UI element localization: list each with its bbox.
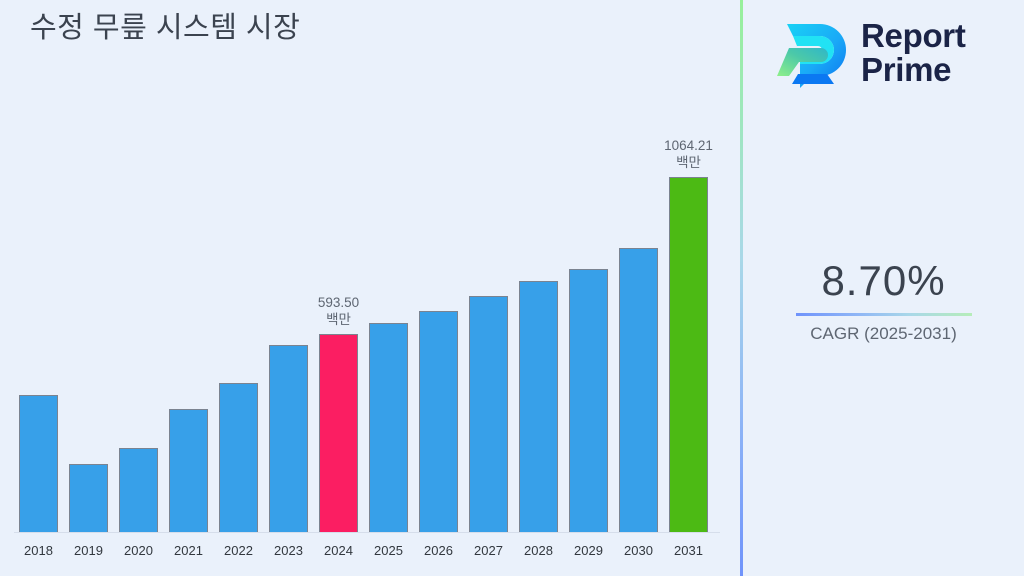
bar-2026 — [419, 311, 458, 533]
bar-2030 — [619, 248, 658, 533]
bar-value-unit-2031: 백만 — [629, 154, 749, 171]
cagr-caption: CAGR (2025-2031) — [743, 323, 1024, 345]
side-panel: Report Prime 8.70% CAGR (2025-2031) — [743, 0, 1024, 576]
bar-2022 — [219, 383, 258, 533]
brand-logo-line2: Prime — [861, 51, 951, 88]
cagr-block: 8.70% CAGR (2025-2031) — [743, 255, 1024, 345]
chart-panel: 수정 무릎 시스템 시장 593.50백만1064.21백만 201820192… — [0, 0, 740, 576]
cagr-value: 8.70% — [743, 255, 1024, 307]
bar-2025 — [369, 323, 408, 533]
brand-logo: Report Prime — [771, 10, 1003, 96]
bar-2024 — [319, 334, 358, 533]
bar-2029 — [569, 269, 608, 533]
bar-2031 — [669, 177, 708, 533]
brand-logo-text: Report Prime — [861, 19, 966, 87]
bar-2019 — [69, 464, 108, 533]
bar-2028 — [519, 281, 558, 533]
x-axis-line — [14, 532, 720, 533]
chart-screenshot: 수정 무릎 시스템 시장 593.50백만1064.21백만 201820192… — [0, 0, 1024, 576]
bar-2021 — [169, 409, 208, 533]
cagr-divider-rule — [796, 313, 972, 316]
bar-2020 — [119, 448, 158, 533]
bar-2027 — [469, 296, 508, 533]
bar-2018 — [19, 395, 58, 533]
brand-logo-line1: Report — [861, 17, 966, 54]
bar-value-number-2031: 1064.21 — [629, 137, 749, 154]
bar-value-number-2024: 593.50 — [279, 294, 399, 311]
plot-area: 593.50백만1064.21백만 — [0, 0, 740, 534]
bar-2023 — [269, 345, 308, 533]
bar-value-label-2031: 1064.21백만 — [629, 137, 749, 171]
report-prime-logo-mark-icon — [771, 14, 849, 92]
x-tick-2031: 2031 — [659, 543, 719, 559]
